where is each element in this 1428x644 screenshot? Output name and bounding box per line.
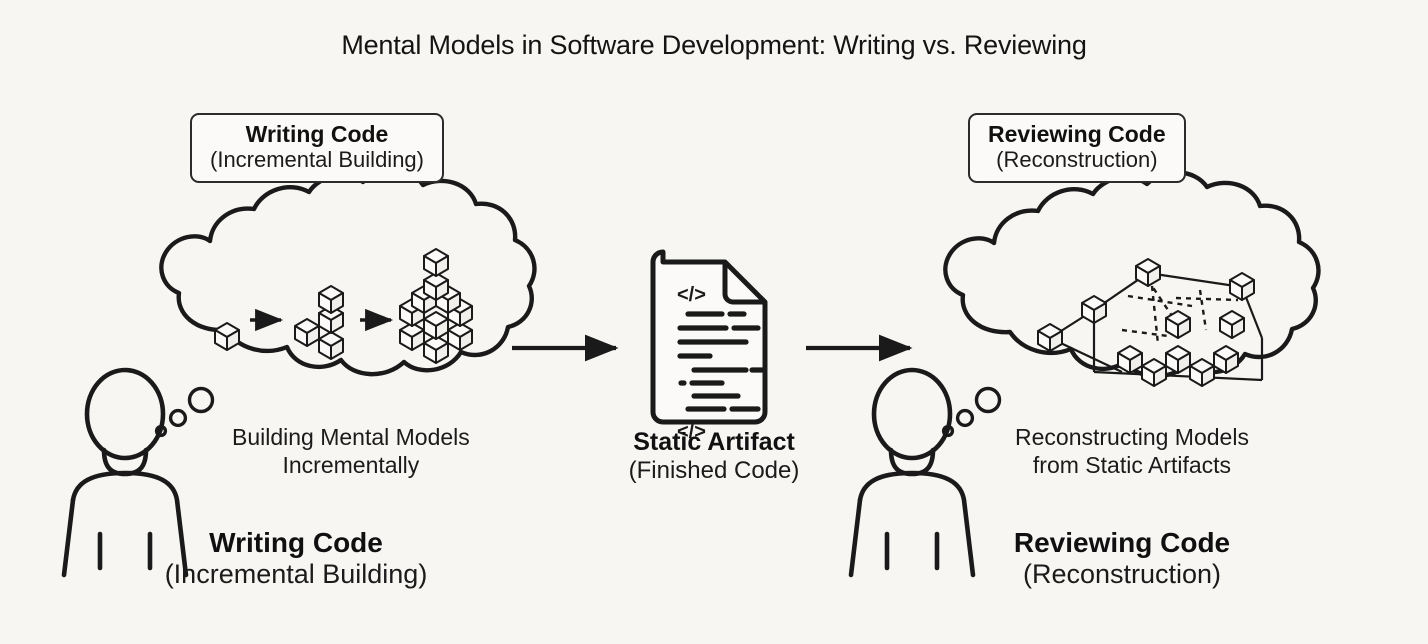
left-thought-cloud	[161, 170, 534, 374]
left-cloud-caption-line1: Building Mental Models	[232, 423, 470, 451]
reviewing-code-header-subtitle: (Reconstruction)	[988, 148, 1166, 172]
code-document-icon: </> </>	[653, 252, 765, 443]
right-thought-bubbles	[944, 389, 1000, 436]
reviewing-code-header-box[interactable]: Reviewing Code (Reconstruction)	[968, 113, 1186, 183]
right-person-icon	[851, 370, 973, 575]
right-cloud-caption-line1: Reconstructing Models	[1015, 423, 1249, 451]
left-cloud-caption: Building Mental Models Incrementally	[232, 423, 470, 479]
right-cloud-links	[1050, 273, 1262, 380]
writing-code-bottom-title: Writing Code	[165, 527, 428, 559]
writing-code-header-title: Writing Code	[210, 122, 424, 148]
writing-code-header-box[interactable]: Writing Code (Incremental Building)	[190, 113, 444, 183]
reviewing-code-bottom-subtitle: (Reconstruction)	[1014, 559, 1230, 590]
left-thought-bubbles	[157, 389, 213, 436]
left-cloud-caption-line2: Incrementally	[232, 451, 470, 479]
right-thought-cloud	[945, 172, 1318, 376]
right-cloud-caption: Reconstructing Models from Static Artifa…	[1015, 423, 1249, 479]
reviewing-code-bottom-label: Reviewing Code (Reconstruction)	[1014, 527, 1230, 590]
right-cloud-caption-line2: from Static Artifacts	[1015, 451, 1249, 479]
right-cloud-cubes	[1038, 259, 1254, 386]
left-cloud-stage-3-large-cluster	[400, 249, 472, 363]
page-title: Mental Models in Software Development: W…	[0, 30, 1428, 61]
static-artifact-caption-line2: (Finished Code)	[629, 457, 800, 485]
svg-text:</>: </>	[677, 284, 706, 306]
writing-code-bottom-subtitle: (Incremental Building)	[165, 559, 428, 590]
static-artifact-caption: Static Artifact (Finished Code)	[629, 428, 800, 485]
reviewing-code-header-title: Reviewing Code	[988, 122, 1166, 148]
reviewing-code-bottom-title: Reviewing Code	[1014, 527, 1230, 559]
diagram-canvas: Mental Models in Software Development: W…	[0, 0, 1428, 644]
writing-code-header-subtitle: (Incremental Building)	[210, 148, 424, 172]
static-artifact-caption-line1: Static Artifact	[629, 428, 800, 457]
left-cloud-stage-1-single-cube	[215, 323, 239, 350]
writing-code-bottom-label: Writing Code (Incremental Building)	[165, 527, 428, 590]
left-cloud-stage-2-small-cluster	[295, 286, 343, 359]
